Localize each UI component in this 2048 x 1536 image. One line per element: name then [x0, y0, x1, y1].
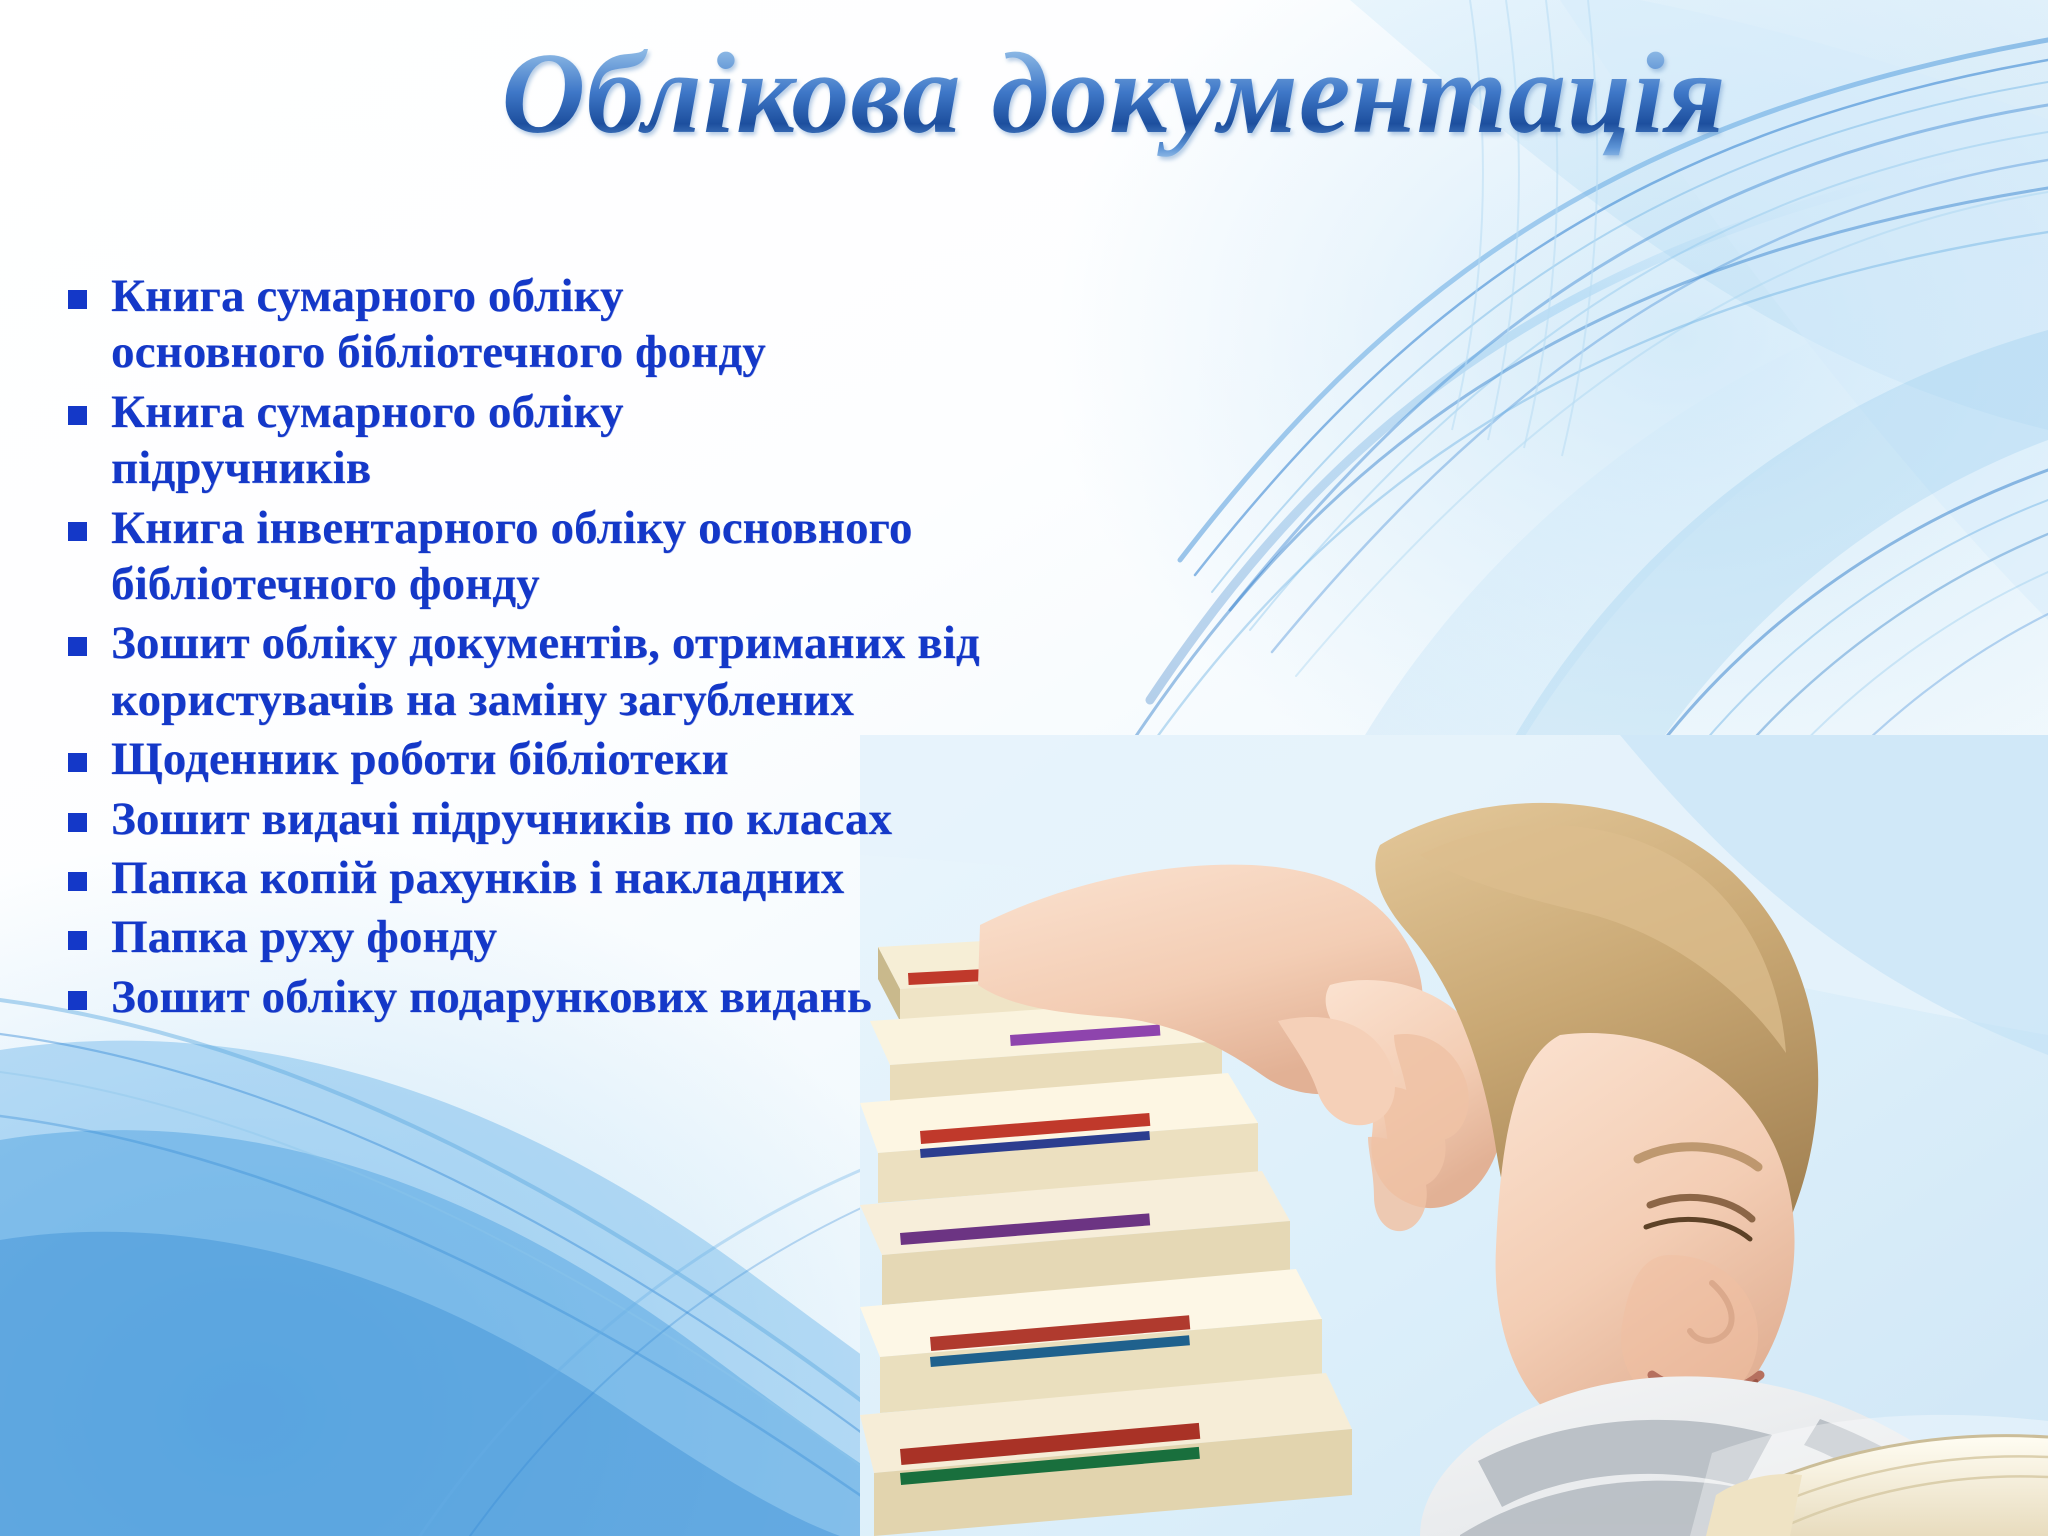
- square-bullet-icon: [68, 290, 87, 309]
- bullet-list: Книга сумарного обліку основного бібліот…: [68, 268, 1348, 1028]
- square-bullet-icon: [68, 872, 87, 891]
- title-container: Облікова документація: [0, 28, 2048, 161]
- square-bullet-icon: [68, 522, 87, 541]
- list-item: Зошит обліку подарункових видань: [68, 969, 1348, 1025]
- list-item: Щоденник роботи бібліотеки: [68, 731, 1348, 787]
- square-bullet-icon: [68, 753, 87, 772]
- list-item-label: Книга сумарного обліку підручників: [111, 384, 811, 497]
- square-bullet-icon: [68, 991, 87, 1010]
- list-item: Папка руху фонду: [68, 909, 1348, 965]
- list-item: Зошит видачі підручників по класах: [68, 791, 1348, 847]
- slide-canvas: Облікова документація Книга сумарного об…: [0, 0, 2048, 1536]
- list-item-label: Книга сумарного обліку основного бібліот…: [111, 268, 811, 381]
- list-item: Книга сумарного обліку підручників: [68, 384, 1348, 497]
- square-bullet-icon: [68, 813, 87, 832]
- list-item: Зошит обліку документів, отриманих від к…: [68, 615, 1348, 728]
- square-bullet-icon: [68, 406, 87, 425]
- list-item-label: Зошит обліку подарункових видань: [111, 969, 1291, 1025]
- list-item-label: Зошит обліку документів, отриманих від к…: [111, 615, 1011, 728]
- list-item-label: Папка копій рахунків і накладних: [111, 850, 1291, 906]
- page-title: Облікова документація: [322, 28, 1727, 161]
- list-item: Книга сумарного обліку основного бібліот…: [68, 268, 1348, 381]
- list-item: Книга інвентарного обліку основного бібл…: [68, 500, 1348, 613]
- square-bullet-icon: [68, 637, 87, 656]
- list-item-label: Папка руху фонду: [111, 909, 1291, 965]
- list-item-label: Зошит видачі підручників по класах: [111, 791, 1291, 847]
- list-item: Папка копій рахунків і накладних: [68, 850, 1348, 906]
- square-bullet-icon: [68, 931, 87, 950]
- list-item-label: Щоденник роботи бібліотеки: [111, 731, 1291, 787]
- list-item-label: Книга інвентарного обліку основного бібл…: [111, 500, 1011, 613]
